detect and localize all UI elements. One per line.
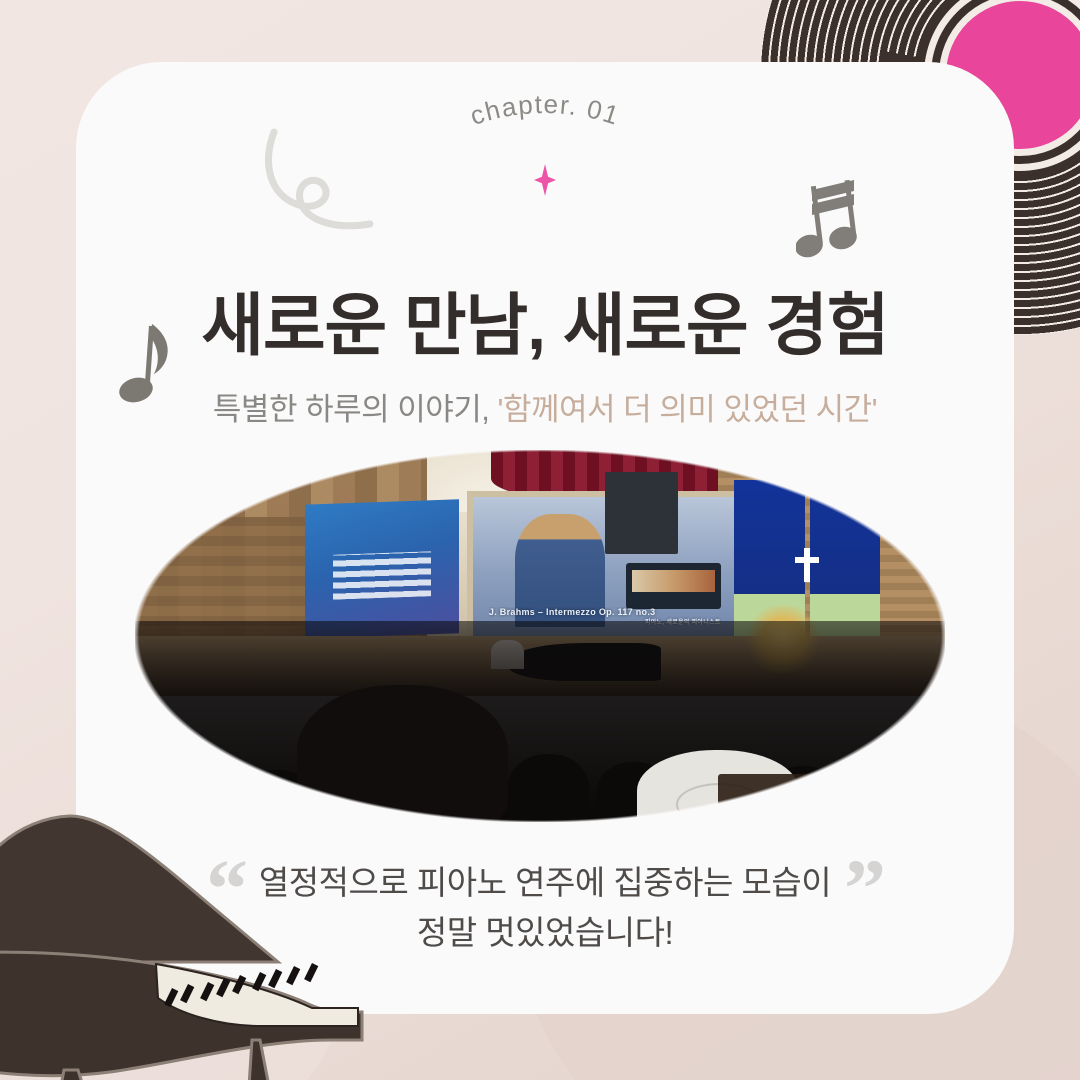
swirl-flourish-icon — [256, 120, 386, 250]
event-photo-scene: J. Brahms – Intermezzo Op. 117 no.3 피아노,… — [135, 450, 945, 822]
beamed-sixteenth-notes-icon — [796, 172, 868, 264]
cross-icon — [804, 548, 810, 582]
event-photo: J. Brahms – Intermezzo Op. 117 no.3 피아노,… — [135, 450, 945, 822]
svg-text:chapter. 01: chapter. 01 — [466, 89, 623, 131]
page-subtitle: 특별한 하루의 이야기, '함께여서 더 의미 있었던 시간' — [76, 384, 1014, 429]
photo-foreground-head — [297, 685, 508, 822]
photo-pew — [718, 774, 929, 806]
photo-screen-piano — [626, 563, 721, 609]
photo-screen-caption-main: J. Brahms – Intermezzo Op. 117 no.3 — [489, 607, 656, 617]
photo-audience — [135, 621, 945, 822]
grand-piano-icon — [0, 812, 430, 1080]
page-title: 새로운 만남, 새로운 경험 — [76, 270, 1014, 369]
photo-blue-banner-left — [305, 499, 459, 638]
subtitle-quoted: '함께여서 더 의미 있었던 시간' — [498, 392, 878, 427]
subtitle-lead: 특별한 하루의 이야기, — [213, 392, 498, 427]
chapter-label: chapter. 01 — [466, 89, 623, 131]
photo-audience-head — [508, 754, 589, 822]
photo-speaker — [605, 472, 678, 554]
